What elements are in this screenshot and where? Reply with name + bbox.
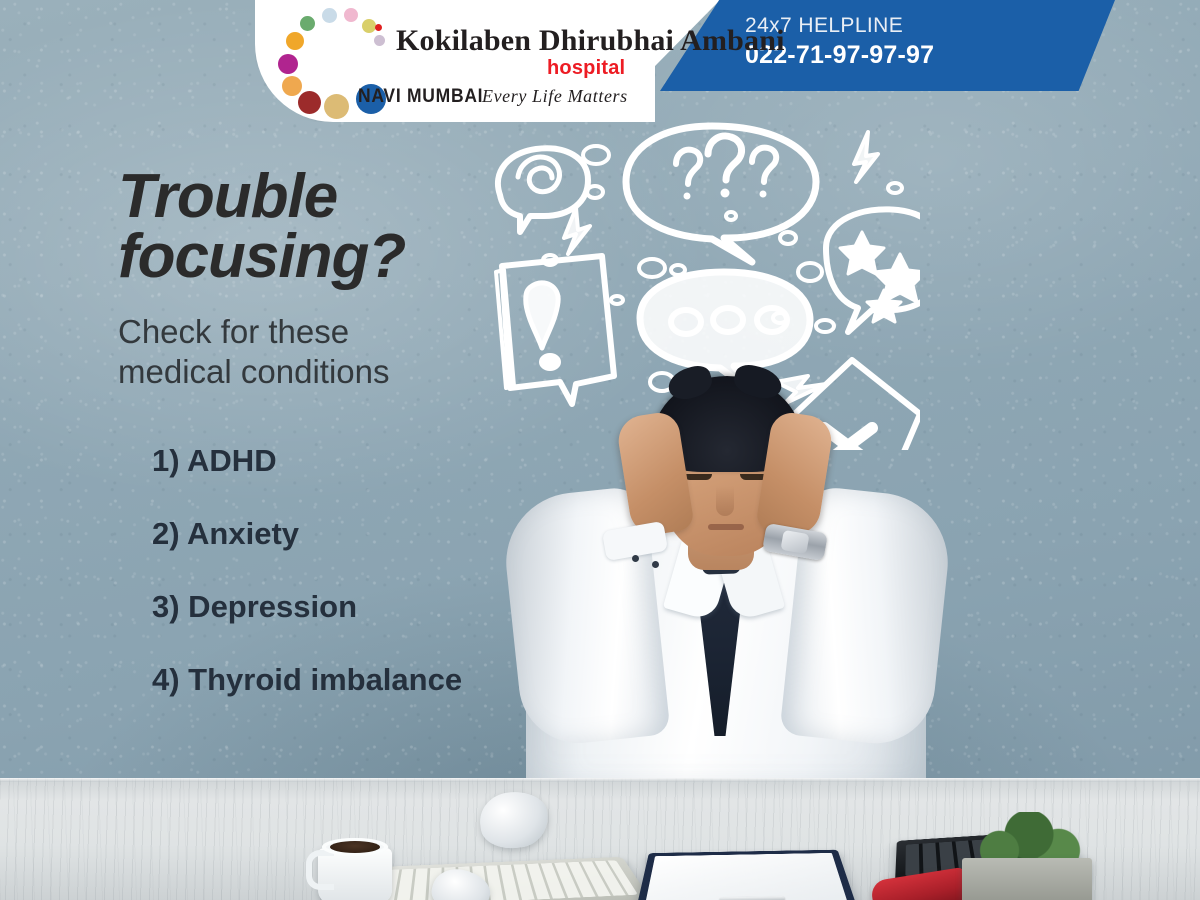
poster-canvas: 24x7 HELPLINE 022-71-97-97-97 Kokilaben … xyxy=(0,0,1200,900)
headline-line-2: focusing? xyxy=(118,227,405,287)
brand-subname: hospital xyxy=(547,57,625,80)
headline: Trouble focusing? xyxy=(118,167,405,287)
plant-pot xyxy=(962,858,1092,900)
brand-city: NAVI MUMBAI xyxy=(358,86,483,108)
list-item: 4) Thyroid imbalance xyxy=(152,662,462,698)
desk-front-edge xyxy=(0,778,1200,782)
mouth xyxy=(708,524,744,530)
coffee-liquid xyxy=(330,841,380,853)
brand-tagline: Every Life Matters xyxy=(482,86,628,107)
stressed-man-figure xyxy=(512,382,942,802)
list-item: 1) ADHD xyxy=(152,443,462,479)
brand-name: Kokilaben Dhirubhai Ambani xyxy=(396,24,785,58)
subheadline-line-2: medical conditions xyxy=(118,352,389,392)
headline-line-1: Trouble xyxy=(118,167,405,227)
cuff-button-left-2 xyxy=(652,561,659,568)
list-item: 2) Anxiety xyxy=(152,516,462,552)
cuff-button-left xyxy=(632,555,639,562)
eye-left xyxy=(684,474,712,480)
conditions-list: 1) ADHD 2) Anxiety 3) Depression 4) Thyr… xyxy=(152,443,462,698)
clipboard xyxy=(635,850,857,900)
clipboard-paper xyxy=(645,853,847,900)
mug-handle xyxy=(306,850,334,890)
clipboard-clip xyxy=(720,896,785,900)
subheadline-line-1: Check for these xyxy=(118,312,389,352)
list-item: 3) Depression xyxy=(152,589,462,625)
nose xyxy=(716,486,734,516)
subheadline: Check for these medical conditions xyxy=(118,312,389,393)
